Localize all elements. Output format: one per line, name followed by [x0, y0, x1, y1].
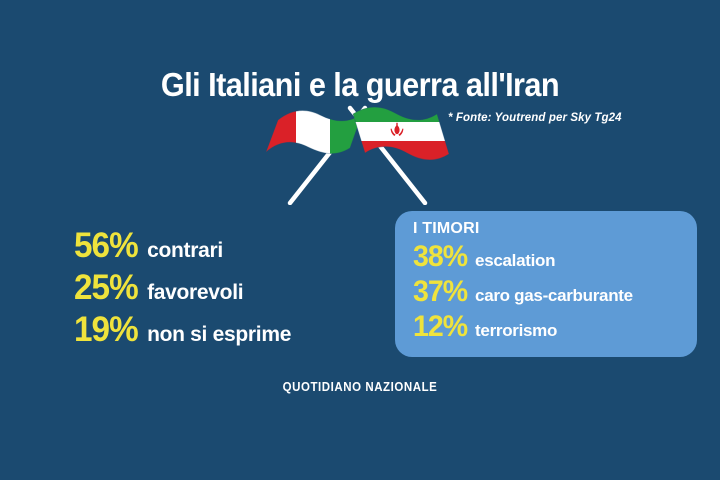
stat-row: 56% contrari	[74, 228, 374, 264]
stat-row: 25% favorevoli	[74, 270, 374, 306]
fear-row: 38% escalation	[413, 240, 697, 273]
source-attribution: * Fonte: Youtrend per Sky Tg24	[448, 112, 622, 124]
stat-label: favorevoli	[147, 281, 243, 305]
stat-label: contrari	[147, 239, 223, 263]
infographic-canvas: Gli Italiani e la guerra all'Iran * Font…	[0, 0, 720, 480]
fears-panel: I TIMORI 38% escalation 37% caro gas-car…	[395, 211, 697, 357]
crossed-flags-illustration	[250, 100, 465, 205]
stat-percentage: 25%	[74, 270, 138, 306]
fear-percentage: 12%	[413, 310, 467, 343]
stat-percentage: 56%	[74, 228, 138, 264]
fears-panel-heading: I TIMORI	[413, 219, 697, 239]
stat-label: non si esprime	[147, 323, 291, 347]
iran-flag-icon	[345, 100, 455, 176]
fear-label: terrorismo	[475, 321, 557, 341]
fear-row: 37% caro gas-carburante	[413, 275, 697, 308]
stat-row: 19% non si esprime	[74, 312, 374, 348]
brand-footer: QUOTIDIANO NAZIONALE	[29, 380, 691, 394]
page-title: Gli Italiani e la guerra all'Iran	[25, 66, 695, 104]
fear-label: escalation	[475, 251, 555, 271]
crossed-flags-icon	[250, 100, 465, 205]
fear-percentage: 38%	[413, 240, 467, 273]
stat-percentage: 19%	[74, 312, 138, 348]
fear-row: 12% terrorismo	[413, 310, 697, 343]
fear-percentage: 37%	[413, 275, 467, 308]
opinion-stats-group: 56% contrari 25% favorevoli 19% non si e…	[74, 228, 374, 354]
fear-label: caro gas-carburante	[475, 286, 633, 306]
